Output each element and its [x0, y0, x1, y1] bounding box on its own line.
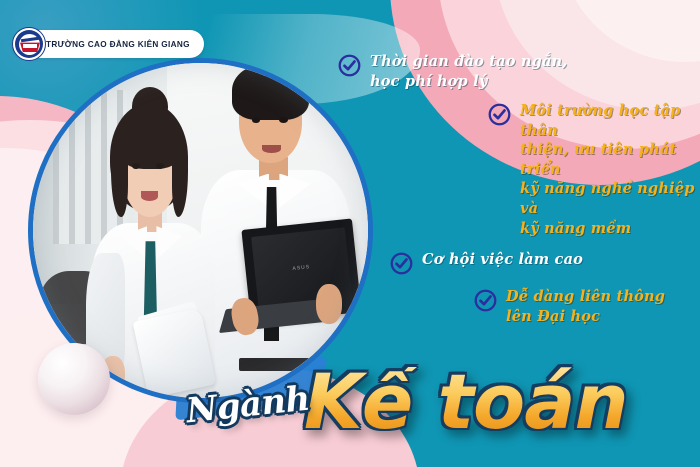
- title-main: Kế toán: [304, 367, 628, 437]
- benefit-text: Cơ hội việc làm cao: [422, 250, 583, 270]
- brand-name-label: TRƯỜNG CAO ĐẲNG KIÊN GIANG: [46, 40, 190, 49]
- school-crest-logo-icon: [12, 27, 46, 61]
- poster-title: Ngành Kế toán: [186, 367, 628, 437]
- benefit-text: Dễ dàng liên thông lên Đại học: [506, 287, 665, 326]
- decorative-sphere: [38, 343, 110, 415]
- list-item: Cơ hội việc làm cao: [390, 250, 698, 275]
- benefit-text: Môi trường học tập thân thiện, ưu tiên p…: [520, 101, 698, 238]
- list-item: Thời gian đào tạo ngắn, học phí hợp lý: [338, 52, 698, 91]
- check-circle-icon: [390, 252, 413, 275]
- list-item: Môi trường học tập thân thiện, ưu tiên p…: [488, 101, 698, 238]
- check-circle-icon: [338, 54, 361, 77]
- benefits-list: Thời gian đào tạo ngắn, học phí hợp lý M…: [338, 52, 698, 336]
- poster-canvas: TRƯỜNG CAO ĐẲNG KIÊN GIANG: [0, 0, 700, 467]
- title-prefix: Ngành: [184, 379, 311, 432]
- check-circle-icon: [474, 289, 497, 312]
- benefit-text: Thời gian đào tạo ngắn, học phí hợp lý: [370, 52, 568, 91]
- list-item: Dễ dàng liên thông lên Đại học: [474, 287, 698, 326]
- check-circle-icon: [488, 103, 511, 126]
